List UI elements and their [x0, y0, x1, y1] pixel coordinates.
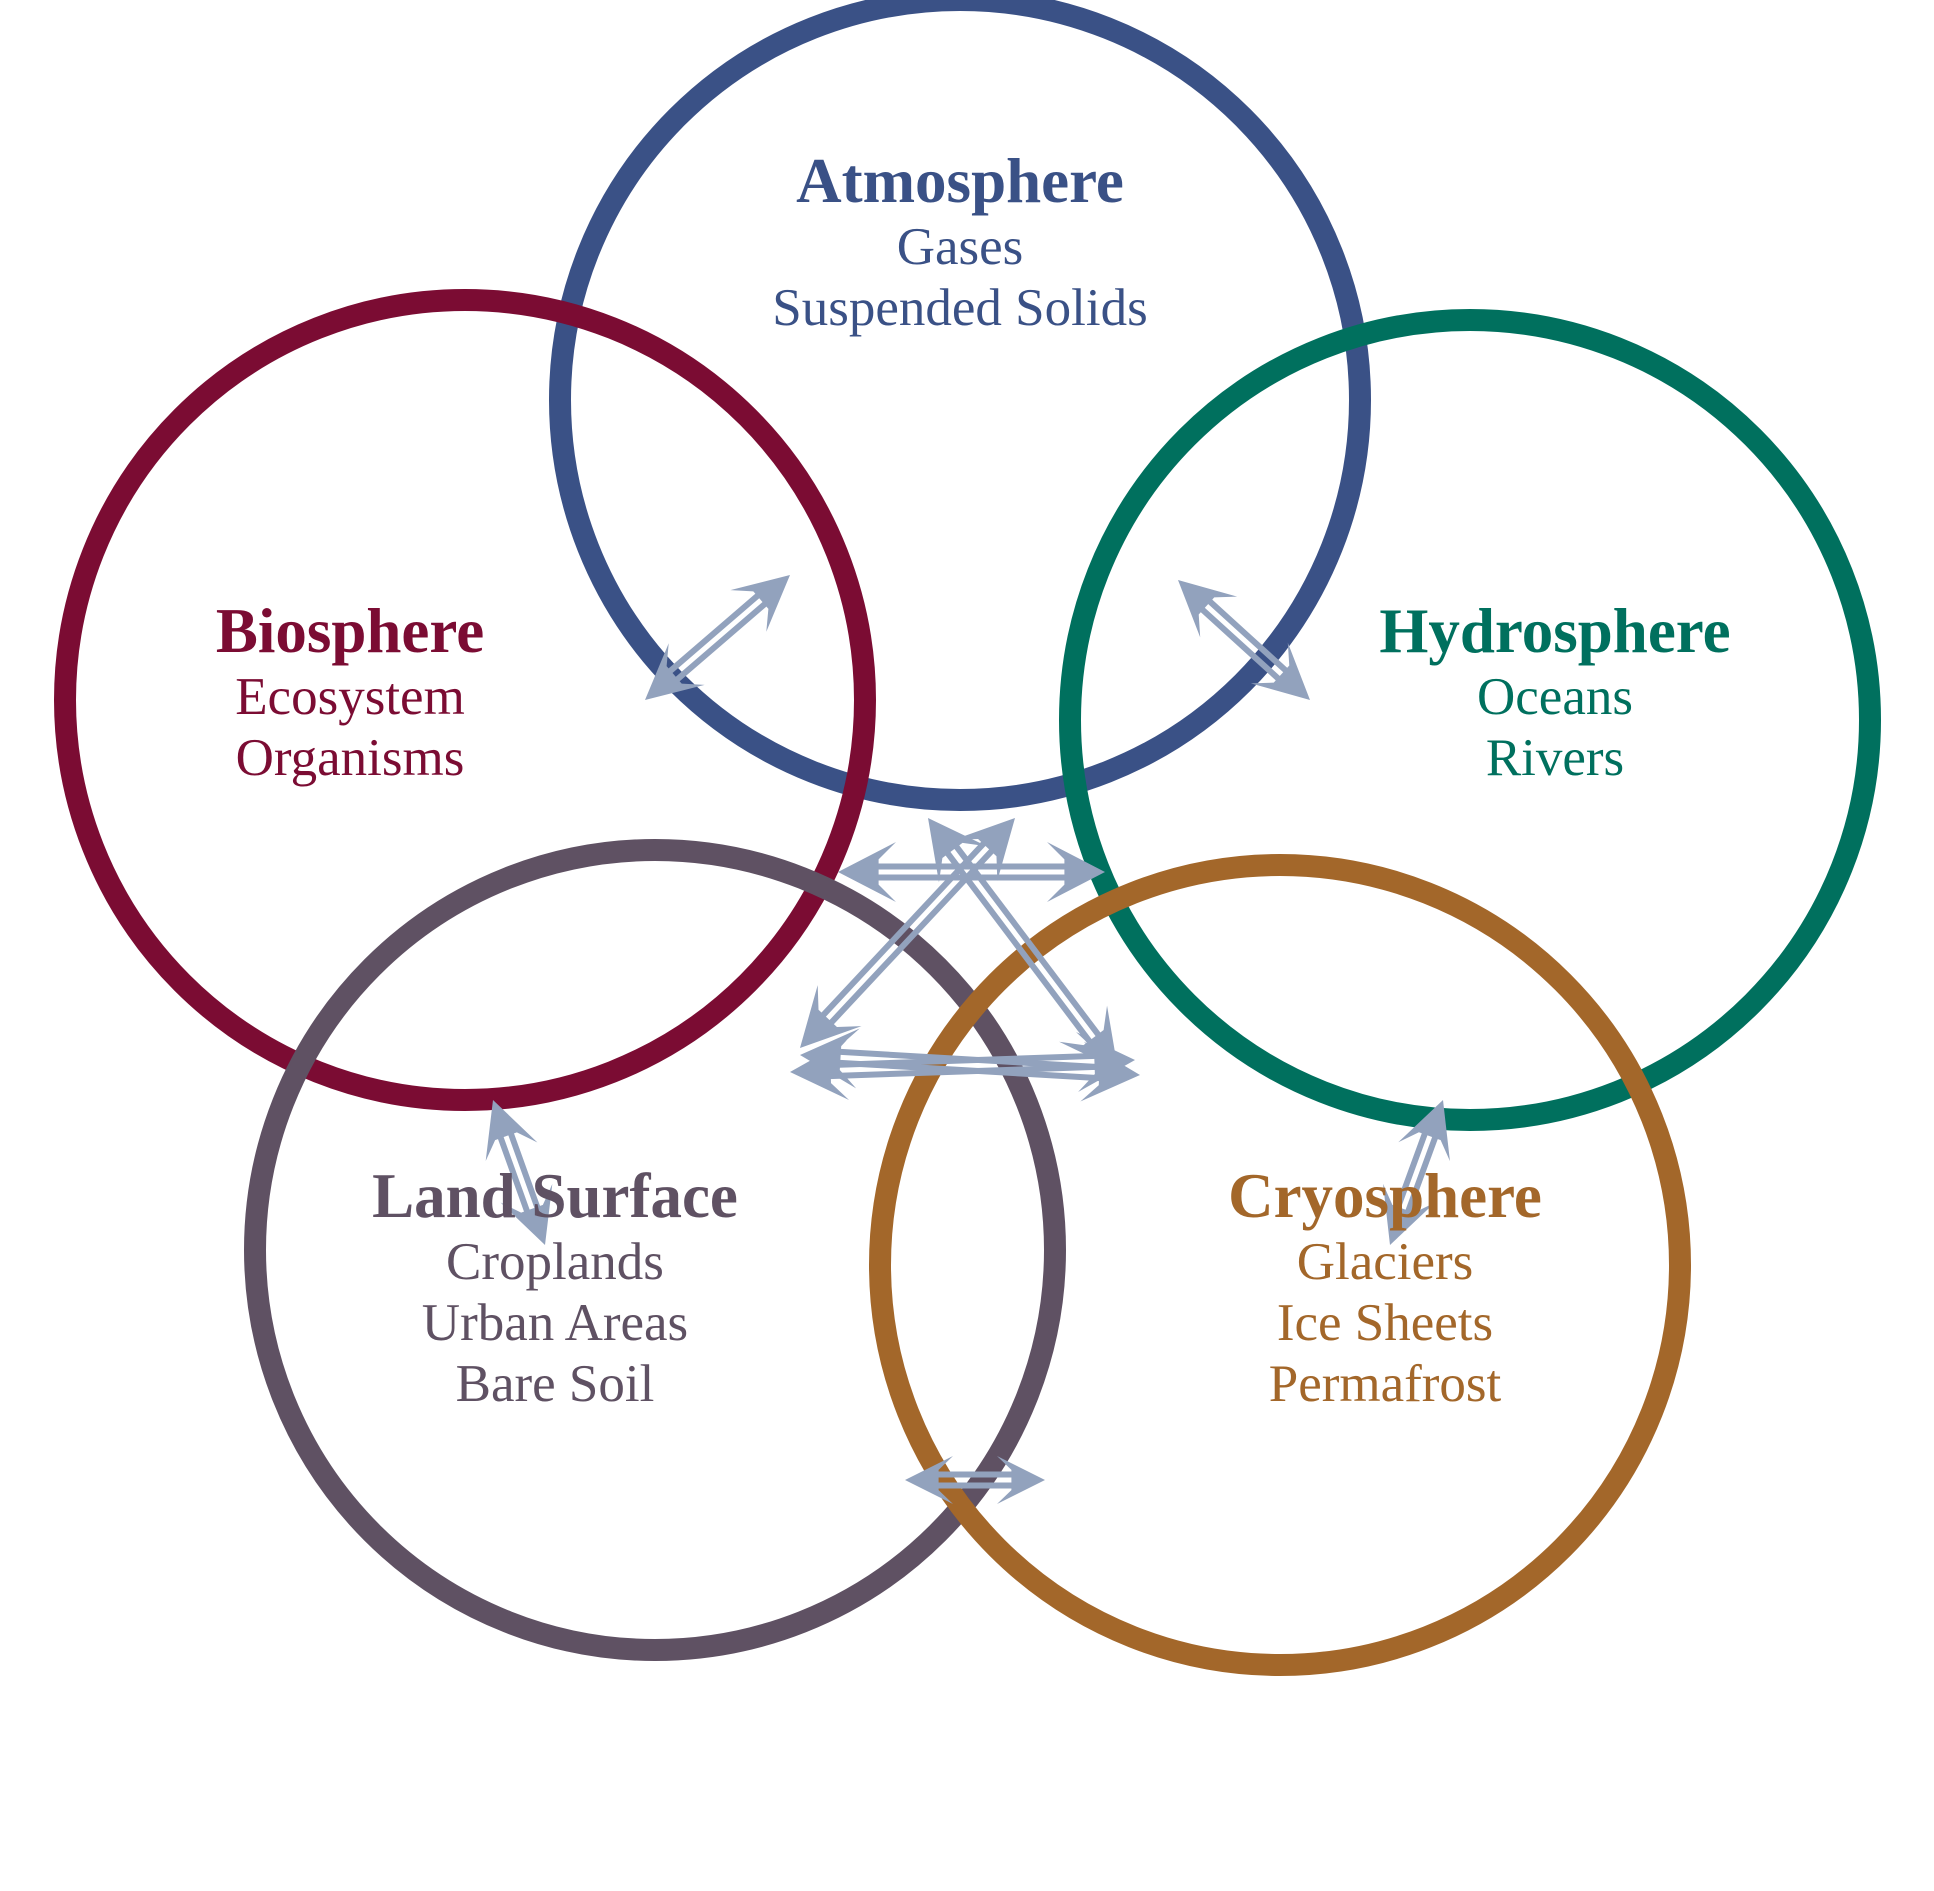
sphere-item-cryosphere-1: Ice Sheets	[1228, 1297, 1542, 1350]
sphere-item-biosphere-0: Ecosystem	[216, 671, 484, 724]
sphere-item-cryosphere-0: Glaciers	[1228, 1236, 1542, 1289]
sphere-item-cryosphere-2: Permafrost	[1228, 1358, 1542, 1411]
arrow-shaft	[664, 591, 763, 676]
sphere-item-hydrosphere-1: Rivers	[1379, 732, 1730, 785]
sphere-item-atmosphere-1: Suspended Solids	[772, 282, 1147, 335]
sphere-item-atmosphere-0: Gases	[772, 221, 1147, 274]
sphere-title-biosphere: Biosphere	[216, 600, 484, 663]
sphere-title-hydrosphere: Hydrosphere	[1379, 600, 1730, 663]
earth-system-diagram: AtmosphereGasesSuspended SolidsBiosphere…	[0, 0, 1934, 1891]
arrow-head	[800, 985, 862, 1048]
sphere-title-land-surface: Land Surface	[372, 1165, 738, 1228]
sphere-title-cryosphere: Cryosphere	[1228, 1165, 1542, 1228]
arrow-head	[1178, 580, 1237, 637]
sphere-item-land-surface-0: Croplands	[372, 1236, 738, 1289]
arrow-shaft	[672, 599, 771, 684]
sphere-item-hydrosphere-0: Oceans	[1379, 671, 1730, 724]
arrow-atmosphere-biosphere	[645, 575, 790, 700]
sphere-title-atmosphere: Atmosphere	[772, 150, 1147, 213]
sphere-item-biosphere-1: Organisms	[216, 732, 484, 785]
sphere-item-land-surface-1: Urban Areas	[372, 1297, 738, 1350]
arrow-head	[486, 1100, 538, 1161]
sphere-item-land-surface-2: Bare Soil	[372, 1358, 738, 1411]
